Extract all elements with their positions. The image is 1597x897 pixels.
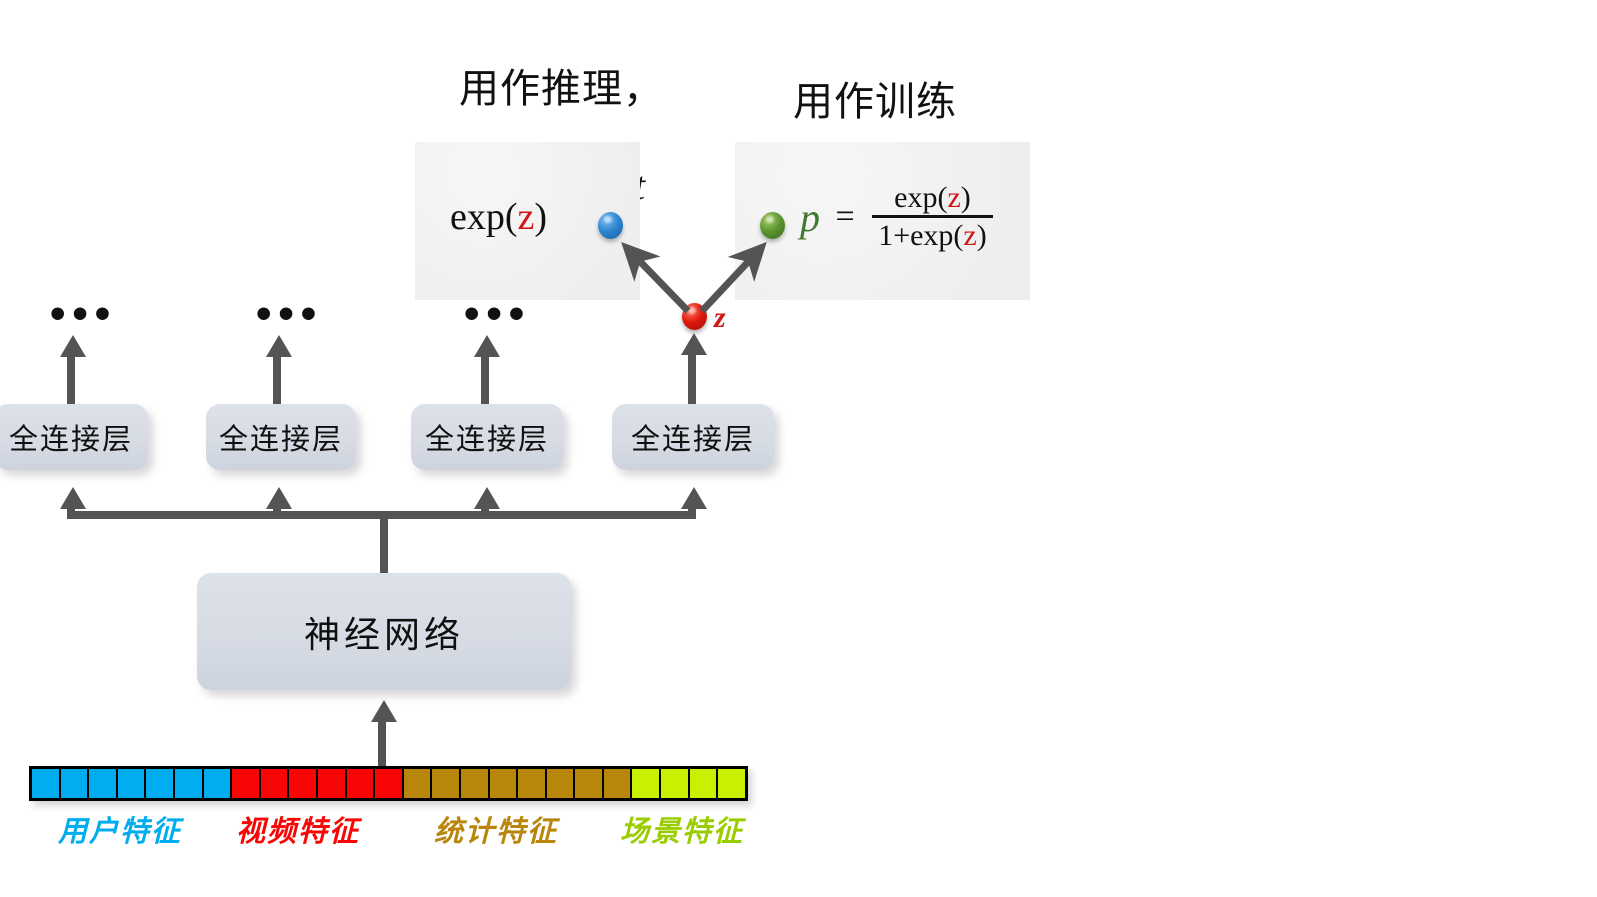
feature-cell-video bbox=[261, 769, 290, 798]
arrow-to-blue-node bbox=[626, 247, 688, 311]
feature-cell-user bbox=[118, 769, 147, 798]
fc-layer-label-3: 全连接层 bbox=[425, 416, 549, 458]
feature-label-video: 视频特征 bbox=[236, 808, 360, 850]
feature-cell-user bbox=[32, 769, 61, 798]
feature-cell-user bbox=[204, 769, 233, 798]
feature-cell-video bbox=[347, 769, 376, 798]
fc-layer-label-2: 全连接层 bbox=[219, 416, 343, 458]
sigmoid-fraction: exp(z) 1+exp(z) bbox=[872, 182, 993, 253]
fc-layer-label-1: 全连接层 bbox=[9, 416, 133, 458]
arrow-features-to-nn-shaft bbox=[378, 721, 386, 767]
ellipsis-1: ••• bbox=[50, 292, 117, 336]
feature-cell-video bbox=[375, 769, 404, 798]
feature-cell-video bbox=[289, 769, 318, 798]
arrow-up-fc1-head bbox=[60, 335, 86, 357]
fc-layer-label-4: 全连接层 bbox=[631, 416, 755, 458]
den-exp-open: 1+exp( bbox=[878, 219, 963, 252]
feature-cell-video bbox=[318, 769, 347, 798]
arrow-to-green-node bbox=[702, 247, 762, 311]
diagram-canvas: 用作推理， 预估时长 t 用作训练 exp(z) p = exp(z) 1+ex… bbox=[0, 0, 1597, 897]
fc-layer-box-1[interactable]: 全连接层 bbox=[0, 404, 148, 470]
bus-arrow-head-3 bbox=[474, 487, 500, 509]
bus-arrow-head-2 bbox=[266, 487, 292, 509]
exp-close: ) bbox=[534, 196, 547, 238]
fraction-denominator: 1+exp(z) bbox=[872, 218, 993, 252]
arrow-up-fc4-head bbox=[681, 333, 707, 355]
feature-cell-context bbox=[690, 769, 719, 798]
feature-vector-bar[interactable] bbox=[29, 766, 748, 801]
feature-cell-stats bbox=[518, 769, 547, 798]
feature-cell-stats bbox=[432, 769, 461, 798]
feature-cell-user bbox=[61, 769, 90, 798]
equals-sign: = bbox=[828, 198, 865, 235]
feature-cell-stats bbox=[490, 769, 519, 798]
training-formula: p = exp(z) 1+exp(z) bbox=[800, 182, 993, 253]
den-variable-z: z bbox=[963, 219, 976, 252]
num-exp-close: ) bbox=[961, 181, 971, 214]
feature-cell-stats bbox=[404, 769, 433, 798]
fc-layer-box-3[interactable]: 全连接层 bbox=[411, 404, 563, 470]
num-variable-z: z bbox=[947, 181, 960, 214]
caption-inference-line1: 用作推理， bbox=[459, 66, 664, 111]
feature-label-context: 场景特征 bbox=[620, 808, 744, 850]
nn-to-bus-trunk bbox=[380, 511, 388, 576]
feature-cell-context bbox=[632, 769, 661, 798]
feature-cell-user bbox=[89, 769, 118, 798]
arrow-up-fc2-head bbox=[266, 335, 292, 357]
logit-branch-arrows bbox=[590, 205, 800, 320]
ellipsis-2: ••• bbox=[256, 292, 323, 336]
feature-cell-video bbox=[232, 769, 261, 798]
bus-arrow-head-1 bbox=[60, 487, 86, 509]
feature-label-user: 用户特征 bbox=[58, 808, 182, 850]
fc-layer-box-2[interactable]: 全连接层 bbox=[206, 404, 356, 470]
feature-cell-context bbox=[718, 769, 745, 798]
num-exp-open: exp( bbox=[894, 181, 947, 214]
fc-layer-box-4[interactable]: 全连接层 bbox=[612, 404, 774, 470]
feature-cell-stats bbox=[547, 769, 576, 798]
feature-cell-stats bbox=[461, 769, 490, 798]
probability-symbol-p: p bbox=[800, 195, 820, 240]
bus-arrow-head-4 bbox=[681, 487, 707, 509]
caption-training: 用作训练 bbox=[793, 78, 957, 127]
exp-variable-z: z bbox=[518, 196, 535, 238]
feature-cell-user bbox=[146, 769, 175, 798]
neural-network-label: 神经网络 bbox=[304, 606, 464, 658]
feature-label-stats: 统计特征 bbox=[434, 808, 558, 850]
arrow-up-fc3-head bbox=[474, 335, 500, 357]
fraction-numerator: exp(z) bbox=[872, 182, 993, 215]
feature-cell-stats bbox=[604, 769, 633, 798]
exp-open: exp( bbox=[450, 196, 518, 238]
feature-cell-context bbox=[661, 769, 690, 798]
neural-network-box[interactable]: 神经网络 bbox=[197, 573, 571, 690]
arrow-features-to-nn-head bbox=[371, 700, 397, 722]
feature-cell-user bbox=[175, 769, 204, 798]
inference-formula: exp(z) bbox=[450, 195, 547, 239]
ellipsis-3: ••• bbox=[464, 292, 531, 336]
feature-cell-stats bbox=[575, 769, 604, 798]
den-exp-close: ) bbox=[977, 219, 987, 252]
